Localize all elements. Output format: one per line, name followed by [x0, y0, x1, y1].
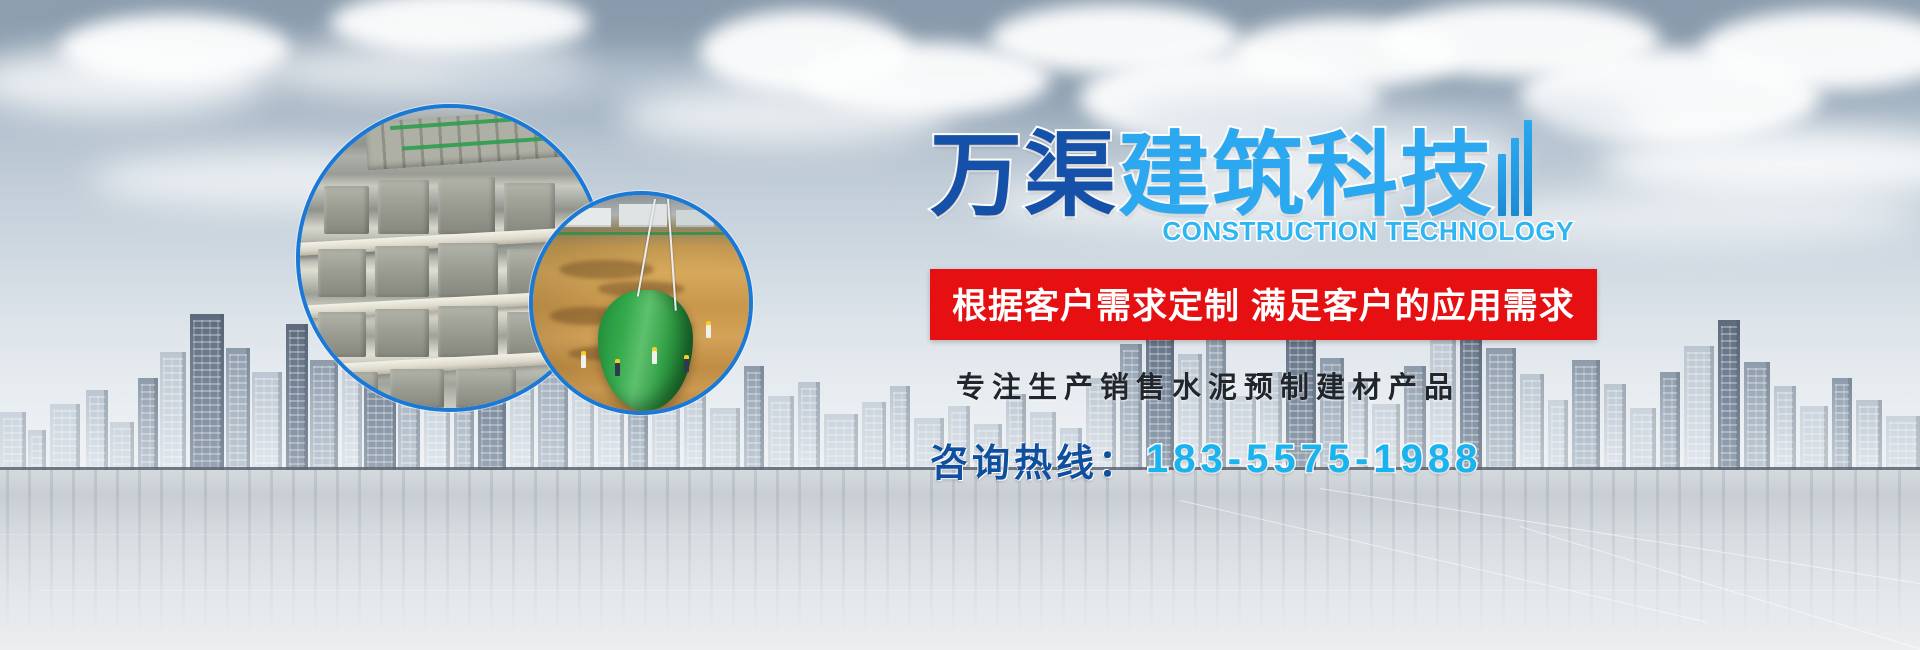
brand-title-row: 万渠 建筑科技	[930, 120, 1610, 222]
photo-circle-excavation-site	[529, 191, 753, 415]
buried-tank-excavation-site-image	[533, 195, 749, 411]
tagline-text: 专注生产销售水泥预制建材产品	[930, 364, 1610, 406]
brand-title-dark: 万渠	[930, 130, 1118, 222]
red-banner-text: 根据客户需求定制 满足客户的应用需求	[952, 287, 1575, 326]
hotline-label: 咨询热线：	[930, 432, 1140, 487]
red-highlight-banner: 根据客户需求定制 满足客户的应用需求	[930, 269, 1597, 340]
reflective-plaza-floor	[0, 470, 1920, 650]
banner-content: 万渠 建筑科技 CONSTRUCTION TECHNOLOGY 根据客户需求定制…	[930, 120, 1610, 487]
accent-bars-icon	[1498, 120, 1532, 222]
top-crate	[365, 106, 604, 171]
hotline-number[interactable]: 183-5575-1988	[1146, 437, 1482, 482]
promo-banner: 万渠 建筑科技 CONSTRUCTION TECHNOLOGY 根据客户需求定制…	[0, 0, 1920, 650]
hotline-row: 咨询热线： 183-5575-1988	[930, 432, 1610, 487]
brand-title-light: 建筑科技	[1118, 130, 1494, 222]
